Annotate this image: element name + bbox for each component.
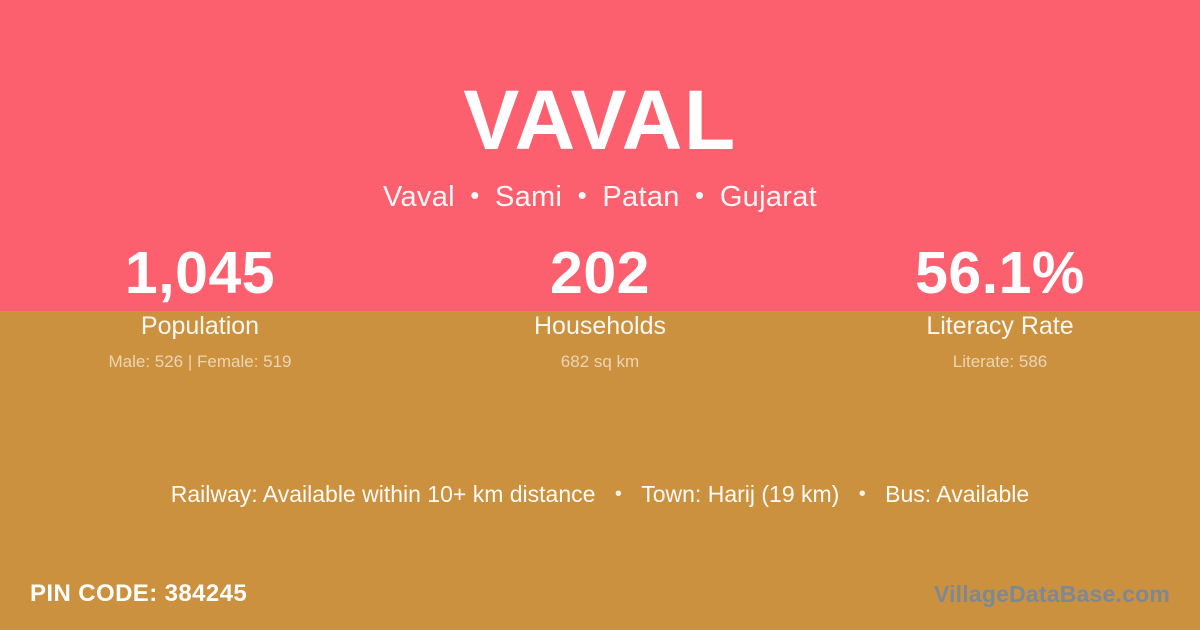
breadcrumb-item-district: Patan [602,181,679,213]
stat-label: Households [400,314,800,339]
breadcrumb-item-block: Sami [495,181,562,213]
stat-value: 56.1% [800,244,1200,303]
breadcrumb-separator: • [463,182,486,208]
page-title: VAVAL [0,78,1200,162]
breadcrumb-separator: • [571,182,594,208]
stat-value: 202 [400,244,800,303]
stat-sublabel: Male: 526 | Female: 519 [0,353,400,370]
infrastructure-separator: • [846,484,879,504]
stat-label: Population [0,314,400,339]
stat-households: 202 Households 682 sq km [400,244,800,370]
infrastructure-row: Railway: Available within 10+ km distanc… [0,483,1200,506]
card-footer: PIN CODE: 384245 VillageDataBase.com [0,558,1200,630]
stats-row: 1,045 Population Male: 526 | Female: 519… [0,244,1200,370]
stat-sublabel: Literate: 586 [800,353,1200,370]
stat-literacy-rate: 56.1% Literacy Rate Literate: 586 [800,244,1200,370]
village-info-card: VAVAL Vaval • Sami • Patan • Gujarat 1,0… [0,0,1200,630]
stat-value: 1,045 [0,244,400,303]
infrastructure-separator: • [602,484,635,504]
pin-code: PIN CODE: 384245 [30,582,247,606]
stat-population: 1,045 Population Male: 526 | Female: 519 [0,244,400,370]
infrastructure-railway: Railway: Available within 10+ km distanc… [171,483,596,506]
breadcrumb-separator: • [688,182,711,208]
stat-sublabel: 682 sq km [400,353,800,370]
breadcrumb-item-state: Gujarat [720,181,817,213]
breadcrumb: Vaval • Sami • Patan • Gujarat [0,182,1200,212]
infrastructure-town: Town: Harij (19 km) [641,483,839,506]
title-block: VAVAL Vaval • Sami • Patan • Gujarat [0,0,1200,212]
site-brand: VillageDataBase.com [934,583,1170,606]
breadcrumb-item-village: Vaval [383,181,455,213]
infrastructure-bus: Bus: Available [885,483,1029,506]
stat-label: Literacy Rate [800,314,1200,339]
